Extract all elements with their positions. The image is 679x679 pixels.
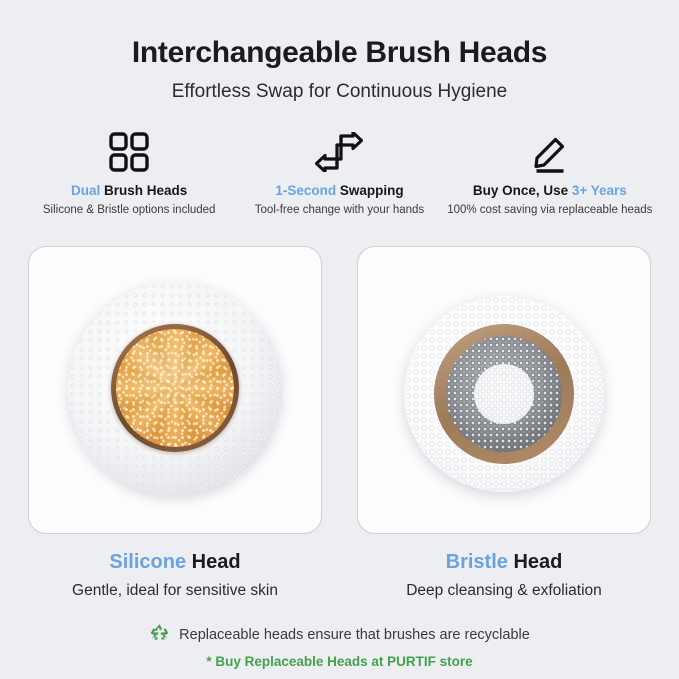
silicone-radial-shading (116, 329, 234, 447)
feature-title-accent: Dual (71, 183, 100, 198)
feature-dual-brush-heads: Dual Brush Heads Silicone & Bristle opti… (24, 129, 234, 216)
silicone-caption: Silicone Head Gentle, ideal for sensitiv… (28, 551, 322, 600)
silicone-head-column: Silicone Head Gentle, ideal for sensitiv… (28, 246, 322, 600)
bristle-head-card[interactable] (357, 246, 651, 534)
feature-title: 1-Second Swapping (234, 183, 444, 199)
header: Interchangeable Brush Heads Effortless S… (0, 0, 679, 103)
caption-title-accent: Bristle (446, 551, 508, 573)
bristle-center-texture (474, 364, 534, 424)
feature-title: Buy Once, Use 3+ Years (445, 183, 655, 199)
bristle-brush-head-photo (382, 268, 626, 512)
page-title: Interchangeable Brush Heads (0, 36, 679, 69)
feature-subtitle: 100% cost saving via replaceable heads (445, 204, 655, 216)
feature-title-accent: 3+ Years (572, 183, 627, 198)
pencil-underline-icon (445, 129, 655, 175)
feature-buy-once-use-years: Buy Once, Use 3+ Years 100% cost saving … (445, 129, 655, 216)
store-promo-text: * Buy Replaceable Heads at PURTIF store (0, 654, 679, 669)
footer: Replaceable heads ensure that brushes ar… (0, 622, 679, 669)
page-subtitle: Effortless Swap for Continuous Hygiene (0, 81, 679, 103)
bristle-caption: Bristle Head Deep cleansing & exfoliatio… (357, 551, 651, 600)
feature-subtitle: Tool-free change with your hands (234, 204, 444, 216)
product-card-row: Silicone Head Gentle, ideal for sensitiv… (0, 246, 679, 600)
feature-title-accent: 1-Second (275, 183, 336, 198)
caption-title-rest: Head (508, 551, 562, 573)
recyclable-note-text: Replaceable heads ensure that brushes ar… (179, 627, 530, 643)
grid-four-squares-icon (24, 129, 234, 175)
caption-subtitle: Deep cleansing & exfoliation (357, 582, 651, 600)
silicone-brush-head-photo (53, 268, 297, 512)
recyclable-note: Replaceable heads ensure that brushes ar… (0, 622, 679, 647)
caption-subtitle: Gentle, ideal for sensitive skin (28, 582, 322, 600)
feature-title-rest: Brush Heads (100, 183, 187, 198)
bristle-head-column: Bristle Head Deep cleansing & exfoliatio… (357, 246, 651, 600)
silicone-head-card[interactable] (28, 246, 322, 534)
caption-title: Bristle Head (357, 551, 651, 574)
feature-title-rest: Swapping (336, 183, 404, 198)
feature-row: Dual Brush Heads Silicone & Bristle opti… (0, 129, 679, 216)
feature-title: Dual Brush Heads (24, 183, 234, 199)
caption-title-rest: Head (186, 551, 240, 573)
feature-one-second-swapping: 1-Second Swapping Tool-free change with … (234, 129, 444, 216)
swap-arrows-icon (234, 129, 444, 175)
caption-title-accent: Silicone (109, 551, 186, 573)
feature-title-pre: Buy Once, Use (473, 183, 572, 198)
feature-subtitle: Silicone & Bristle options included (24, 204, 234, 216)
recycle-icon (149, 622, 170, 647)
caption-title: Silicone Head (28, 551, 322, 574)
silicone-gold-center (116, 329, 234, 447)
